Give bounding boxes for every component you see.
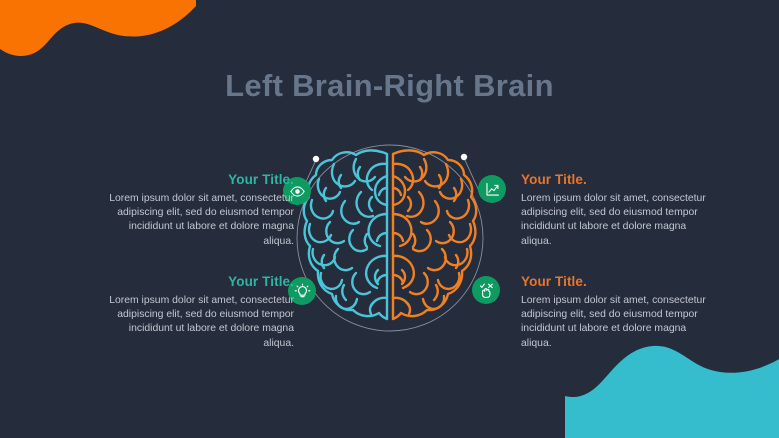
block-title: Your Title. bbox=[98, 274, 294, 289]
left-hemisphere bbox=[304, 150, 387, 319]
connector-dot bbox=[313, 156, 319, 162]
brain-diagram bbox=[268, 130, 512, 346]
teal-wave-blob bbox=[565, 342, 779, 438]
block-body: Lorem ipsum dolor sit amet, consectetur … bbox=[98, 192, 294, 249]
block-top-right: Your Title. Lorem ipsum dolor sit amet, … bbox=[521, 172, 717, 249]
page-title: Left Brain-Right Brain bbox=[0, 68, 779, 104]
block-title: Your Title. bbox=[521, 172, 717, 187]
block-body: Lorem ipsum dolor sit amet, consectetur … bbox=[98, 294, 294, 351]
connector-dot bbox=[461, 154, 467, 160]
block-top-left: Your Title. Lorem ipsum dolor sit amet, … bbox=[98, 172, 294, 249]
block-body: Lorem ipsum dolor sit amet, consectetur … bbox=[521, 294, 717, 351]
block-bottom-right: Your Title. Lorem ipsum dolor sit amet, … bbox=[521, 274, 717, 351]
block-body: Lorem ipsum dolor sit amet, consectetur … bbox=[521, 192, 717, 249]
block-bottom-left: Your Title. Lorem ipsum dolor sit amet, … bbox=[98, 274, 294, 351]
hand-choice-icon[interactable] bbox=[472, 276, 500, 304]
block-title: Your Title. bbox=[98, 172, 294, 187]
slide-canvas: Left Brain-Right Brain bbox=[0, 0, 779, 438]
right-hemisphere bbox=[393, 150, 476, 319]
line-chart-icon[interactable] bbox=[478, 175, 506, 203]
block-title: Your Title. bbox=[521, 274, 717, 289]
orange-wave-blob bbox=[0, 0, 196, 74]
